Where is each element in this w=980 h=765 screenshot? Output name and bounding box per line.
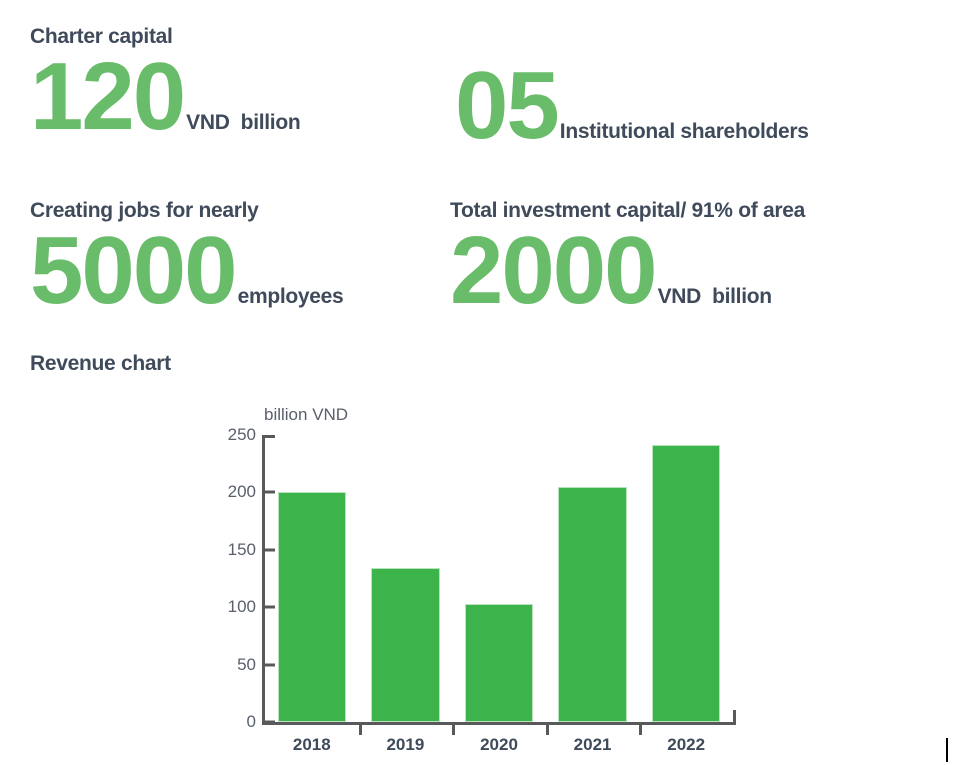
stat-shareholders-unit: Institutional shareholders — [560, 120, 809, 144]
stat-charter-capital-number: 120 — [30, 49, 184, 145]
chart-x-tick-label: 2021 — [574, 735, 612, 755]
chart-x-tick-label: 2020 — [480, 735, 518, 755]
stat-jobs: Creating jobs for nearly 5000 employees — [30, 200, 343, 319]
stat-jobs-value-row: 5000 employees — [30, 223, 343, 319]
stat-charter-capital-unit: VND billion — [186, 111, 300, 135]
chart-bar-2022 — [652, 445, 720, 722]
chart-y-tick-label: 0 — [247, 712, 256, 732]
chart-x-tick-mark — [546, 722, 549, 735]
stat-investment: Total investment capital/ 91% of area 20… — [450, 200, 805, 319]
chart-section-title: Revenue chart — [30, 352, 171, 376]
revenue-bar-chart: billion VND 050100150200250 201820192020… — [216, 405, 736, 755]
chart-y-axis-labels: 050100150200250 — [216, 435, 256, 725]
chart-bar-slot — [652, 435, 720, 722]
stat-jobs-unit: employees — [238, 285, 344, 309]
stat-investment-unit: VND billion — [658, 285, 772, 309]
infographic-page: Charter capital 120 VND billion 05 Insti… — [0, 0, 980, 763]
chart-x-tick-mark — [452, 722, 455, 735]
chart-x-tick-label: 2022 — [667, 735, 705, 755]
chart-y-tick-label: 250 — [228, 425, 256, 445]
chart-bar-2018 — [278, 492, 346, 722]
chart-y-tick-label: 200 — [228, 482, 256, 502]
stat-shareholders-value-row: 05 Institutional shareholders — [455, 58, 809, 154]
chart-x-tick-label: 2019 — [386, 735, 424, 755]
chart-bars-area — [265, 435, 733, 722]
chart-x-axis-right-cap — [733, 710, 736, 725]
chart-plot-area: 050100150200250 20182019202020212022 — [216, 435, 736, 730]
stat-jobs-number: 5000 — [30, 223, 236, 319]
chart-x-axis-line — [262, 722, 736, 725]
chart-y-tick-label: 50 — [237, 655, 256, 675]
stat-investment-number: 2000 — [450, 223, 656, 319]
chart-x-tick-label: 2018 — [293, 735, 331, 755]
chart-bar-2021 — [558, 487, 626, 722]
chart-bar-slot — [278, 435, 346, 722]
text-caret — [946, 738, 948, 762]
chart-bar-slot — [558, 435, 626, 722]
chart-bar-slot — [465, 435, 533, 722]
stat-shareholders-number: 05 — [455, 58, 558, 154]
chart-x-tick-mark — [359, 722, 362, 735]
stat-shareholders: 05 Institutional shareholders — [455, 56, 809, 154]
chart-y-axis-unit-label: billion VND — [264, 405, 348, 425]
stat-charter-capital: Charter capital 120 VND billion — [30, 26, 300, 145]
chart-bar-slot — [371, 435, 439, 722]
chart-bar-2019 — [371, 568, 439, 722]
chart-bar-2020 — [465, 604, 533, 722]
chart-y-tick-label: 150 — [228, 540, 256, 560]
chart-x-axis-labels: 20182019202020212022 — [265, 735, 733, 765]
chart-x-tick-mark — [639, 722, 642, 735]
stat-charter-capital-value-row: 120 VND billion — [30, 49, 300, 145]
chart-y-tick-label: 100 — [228, 597, 256, 617]
stat-investment-value-row: 2000 VND billion — [450, 223, 805, 319]
